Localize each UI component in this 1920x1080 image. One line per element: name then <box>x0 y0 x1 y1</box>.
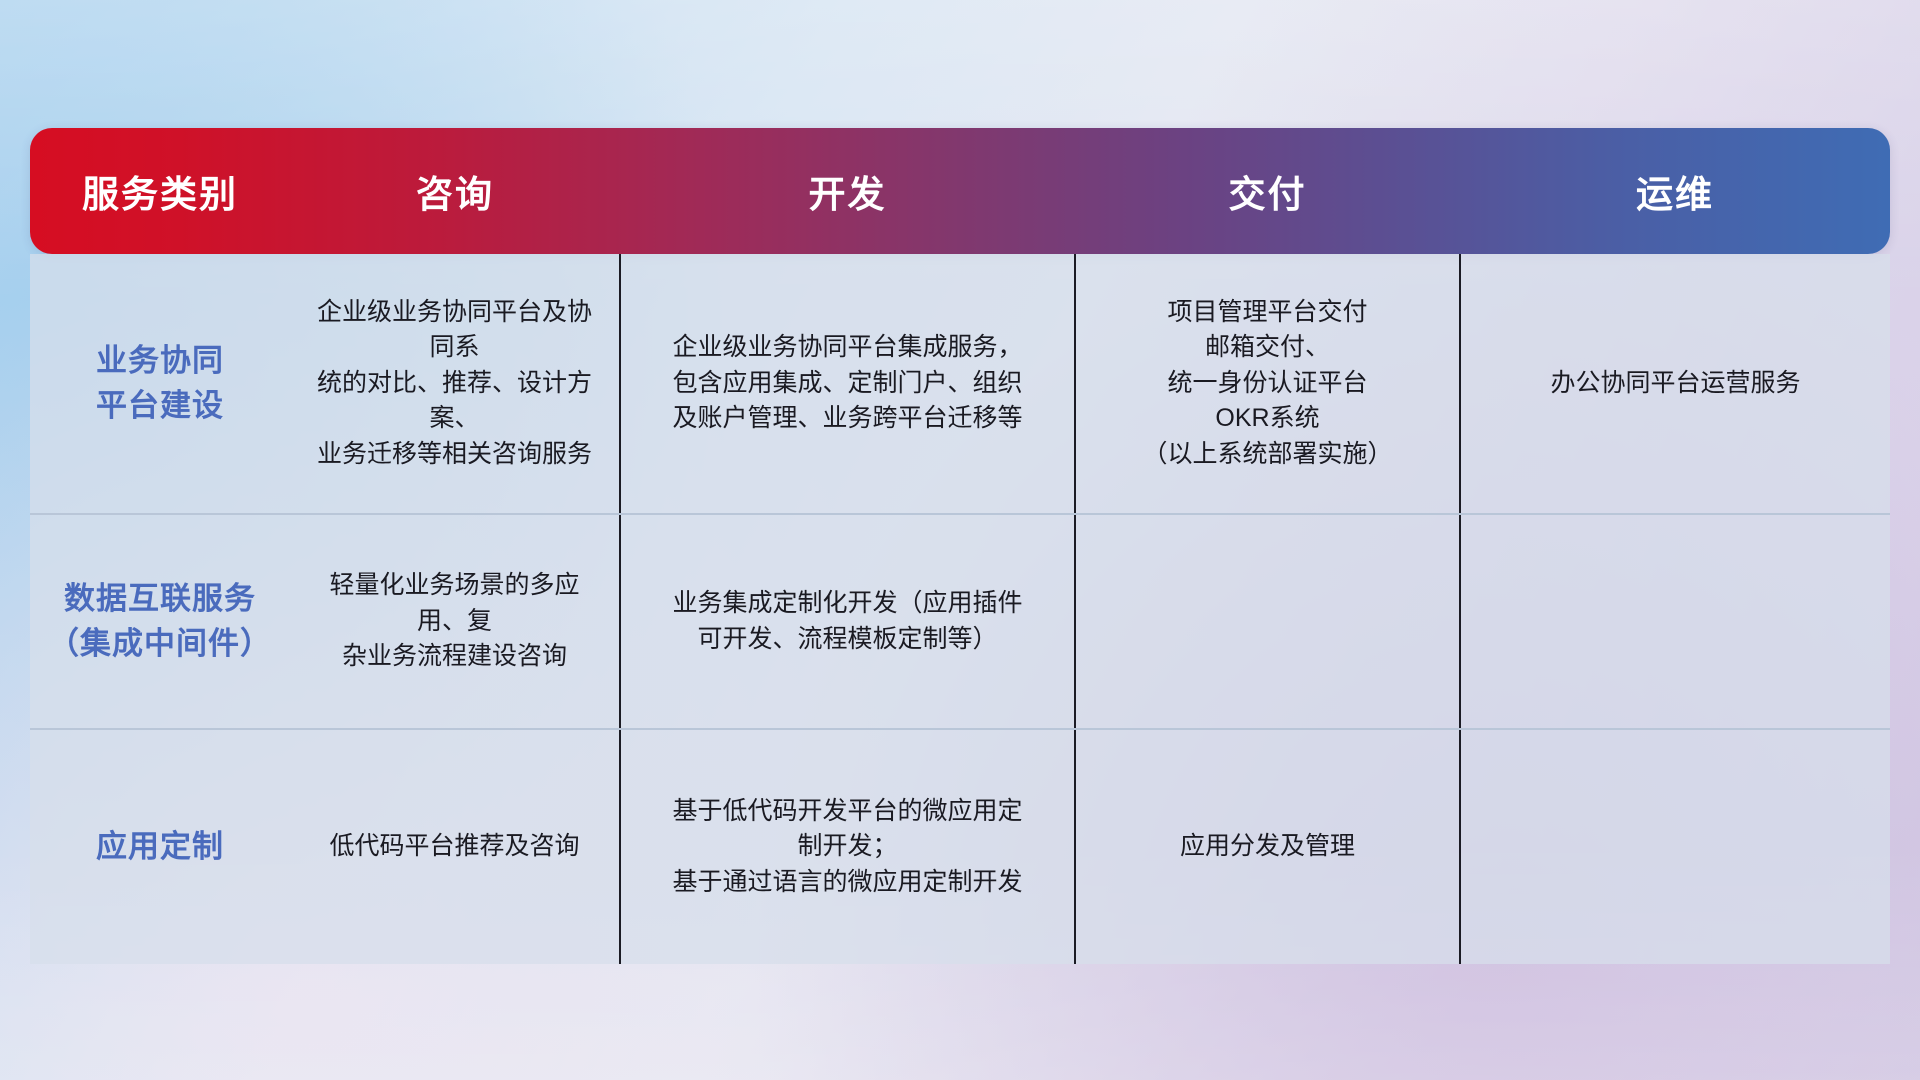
table-row: 数据互联服务 （集成中间件） 轻量化业务场景的多应用、复 杂业务流程建设咨询 业… <box>30 514 1890 729</box>
cell-development: 业务集成定制化开发（应用插件 可开发、流程模板定制等） <box>620 514 1075 729</box>
column-header-operations: 运维 <box>1460 128 1890 254</box>
table-header-row: 服务类别 咨询 开发 交付 运维 <box>30 128 1890 254</box>
table-body: 业务协同 平台建设 企业级业务协同平台及协同系 统的对比、推荐、设计方案、 业务… <box>30 254 1890 964</box>
table-row: 应用定制 低代码平台推荐及咨询 基于低代码开发平台的微应用定 制开发； 基于通过… <box>30 729 1890 964</box>
cell-operations: 办公协同平台运营服务 <box>1460 254 1890 514</box>
cell-operations <box>1460 514 1890 729</box>
cell-development: 企业级业务协同平台集成服务， 包含应用集成、定制门户、组织 及账户管理、业务跨平… <box>620 254 1075 514</box>
column-header-development: 开发 <box>620 128 1075 254</box>
cell-text: 企业级业务协同平台及协同系 统的对比、推荐、设计方案、 业务迁移等相关咨询服务 <box>306 295 603 473</box>
table-row: 业务协同 平台建设 企业级业务协同平台及协同系 统的对比、推荐、设计方案、 业务… <box>30 254 1890 514</box>
cell-text: 轻量化业务场景的多应用、复 杂业务流程建设咨询 <box>306 568 603 675</box>
cell-text: 项目管理平台交付 邮箱交付、 统一身份认证平台 OKR系统 （以上系统部署实施） <box>1092 295 1443 473</box>
cell-development: 基于低代码开发平台的微应用定 制开发； 基于通过语言的微应用定制开发 <box>620 729 1075 964</box>
cell-text: 低代码平台推荐及咨询 <box>306 829 603 865</box>
row-category-label: 应用定制 <box>30 729 290 964</box>
column-header-consulting: 咨询 <box>290 128 620 254</box>
cell-consulting: 轻量化业务场景的多应用、复 杂业务流程建设咨询 <box>290 514 620 729</box>
cell-operations <box>1460 729 1890 964</box>
cell-consulting: 低代码平台推荐及咨询 <box>290 729 620 964</box>
row-category-label: 业务协同 平台建设 <box>30 254 290 514</box>
cell-text: 业务协同 平台建设 <box>46 339 274 429</box>
column-header-category: 服务类别 <box>30 128 290 254</box>
service-matrix-table-container: 服务类别 咨询 开发 交付 运维 业务协同 平台建设 企业级业务协同平台及协同系… <box>30 128 1890 964</box>
cell-delivery: 应用分发及管理 <box>1075 729 1460 964</box>
cell-text: 业务集成定制化开发（应用插件 可开发、流程模板定制等） <box>637 586 1058 657</box>
cell-text: 办公协同平台运营服务 <box>1477 366 1874 402</box>
column-header-delivery: 交付 <box>1075 128 1460 254</box>
cell-text: 数据互联服务 （集成中间件） <box>46 577 274 667</box>
cell-delivery <box>1075 514 1460 729</box>
row-category-label: 数据互联服务 （集成中间件） <box>30 514 290 729</box>
cell-text: 企业级业务协同平台集成服务， 包含应用集成、定制门户、组织 及账户管理、业务跨平… <box>637 330 1058 437</box>
table-header-row-group: 服务类别 咨询 开发 交付 运维 <box>30 128 1890 254</box>
cell-text: 应用分发及管理 <box>1092 829 1443 865</box>
service-matrix-table: 服务类别 咨询 开发 交付 运维 业务协同 平台建设 企业级业务协同平台及协同系… <box>30 128 1890 964</box>
cell-text: 应用定制 <box>46 825 274 870</box>
cell-delivery: 项目管理平台交付 邮箱交付、 统一身份认证平台 OKR系统 （以上系统部署实施） <box>1075 254 1460 514</box>
cell-text: 基于低代码开发平台的微应用定 制开发； 基于通过语言的微应用定制开发 <box>637 794 1058 901</box>
cell-consulting: 企业级业务协同平台及协同系 统的对比、推荐、设计方案、 业务迁移等相关咨询服务 <box>290 254 620 514</box>
